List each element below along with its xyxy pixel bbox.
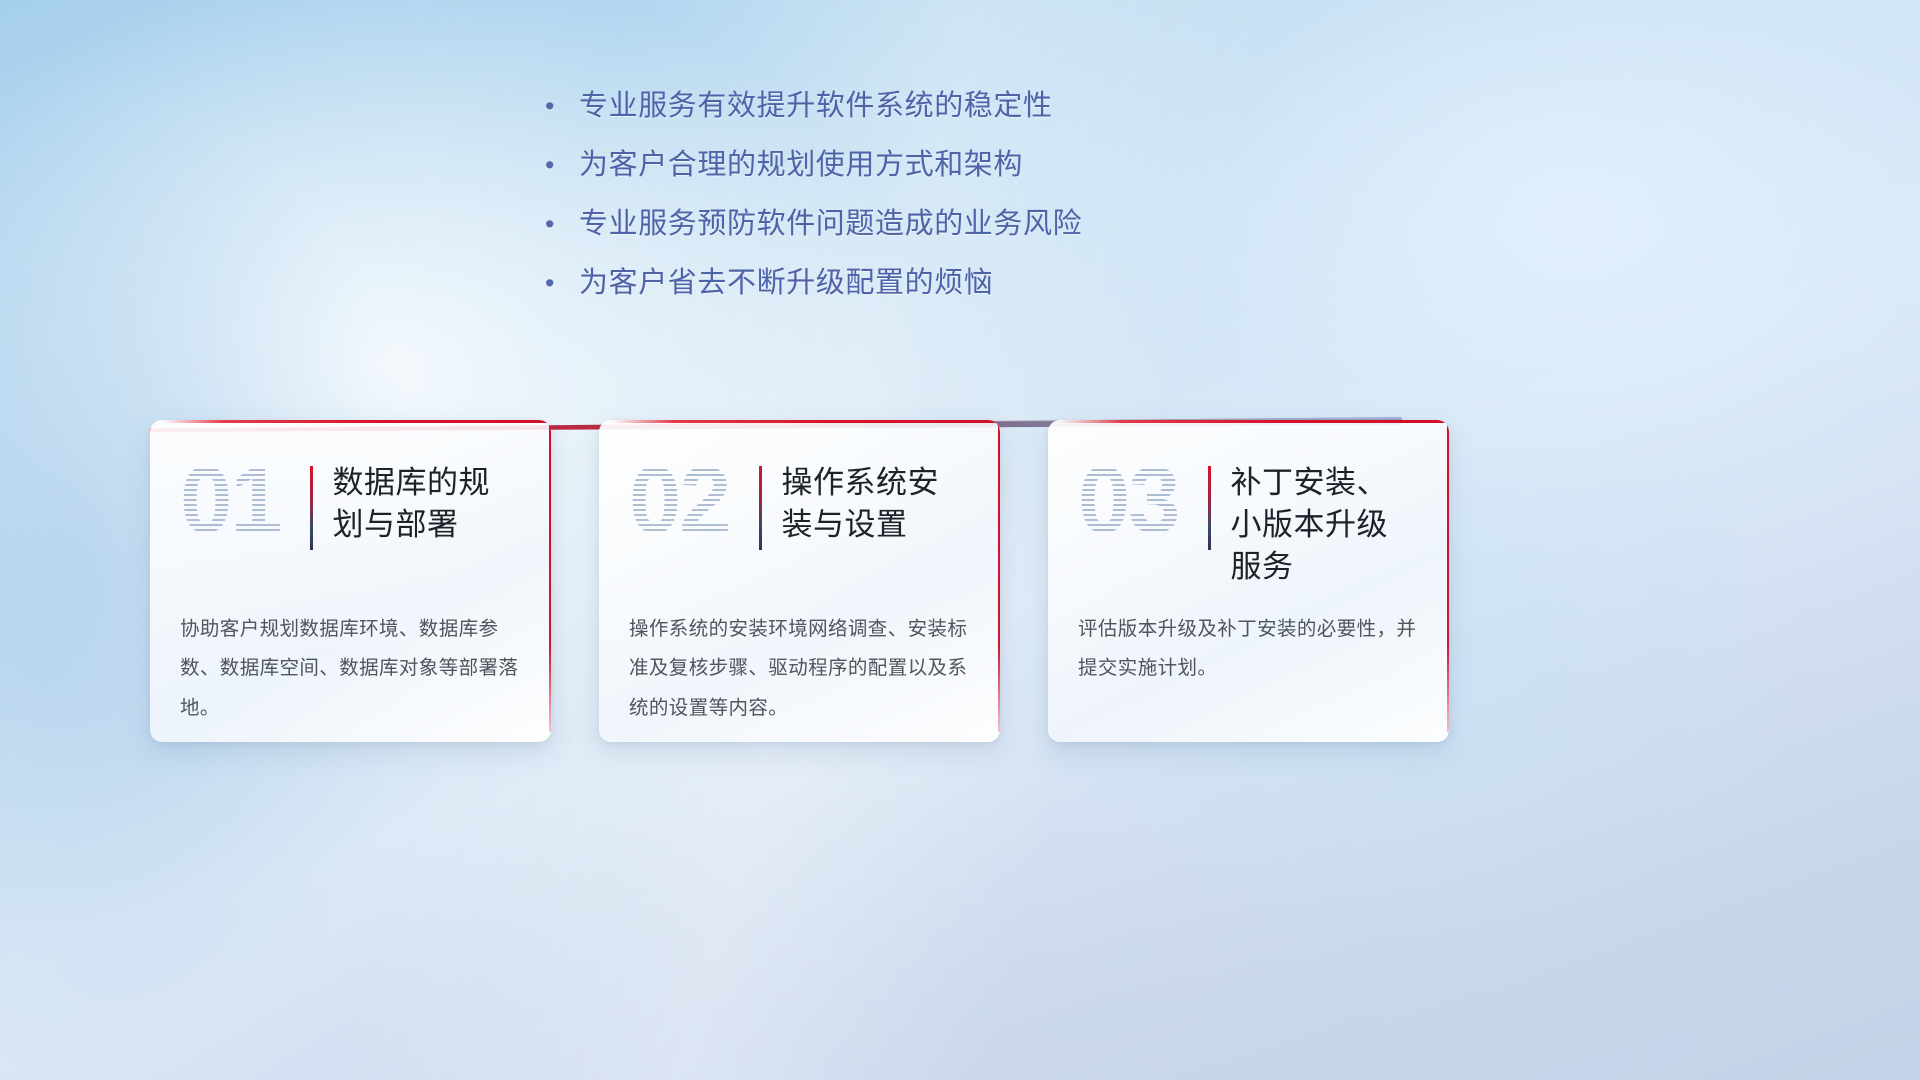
- service-card[interactable]: 03 补丁安装、小版本升级服务 评估版本升级及补丁安装的必要性，并提交实施计划。: [1048, 420, 1449, 742]
- list-item: • 专业服务有效提升软件系统的稳定性: [545, 88, 1265, 125]
- card-description: 评估版本升级及补丁安装的必要性，并提交实施计划。: [1078, 610, 1419, 689]
- bullet-dot-icon: •: [545, 93, 579, 120]
- card-title: 操作系统安装与设置: [782, 460, 971, 546]
- bullet-text: 专业服务预防软件问题造成的业务风险: [579, 206, 1265, 243]
- service-card[interactable]: 01 数据库的规划与部署 协助客户规划数据库环境、数据库参数、数据库空间、数据库…: [150, 420, 551, 742]
- bullet-dot-icon: •: [545, 211, 579, 238]
- card-description: 操作系统的安装环境网络调查、安装标准及复核步骤、驱动程序的配置以及系统的设置等内…: [629, 610, 970, 728]
- card-number: 03: [1078, 454, 1204, 546]
- card-number: 01: [180, 454, 306, 546]
- card-title: 数据库的规划与部署: [333, 460, 522, 546]
- card-title: 补丁安装、小版本升级服务: [1231, 460, 1420, 588]
- card-divider-rule: [759, 466, 762, 550]
- card-number: 02: [629, 454, 755, 546]
- benefits-bullet-list: • 专业服务有效提升软件系统的稳定性 • 为客户合理的规划使用方式和架构 • 专…: [545, 88, 1265, 324]
- bullet-text: 为客户合理的规划使用方式和架构: [579, 147, 1265, 184]
- card-divider-rule: [1208, 466, 1211, 550]
- service-card-row: 01 数据库的规划与部署 协助客户规划数据库环境、数据库参数、数据库空间、数据库…: [150, 420, 1450, 742]
- slide-root: • 专业服务有效提升软件系统的稳定性 • 为客户合理的规划使用方式和架构 • 专…: [0, 0, 1920, 1080]
- bullet-text: 为客户省去不断升级配置的烦恼: [579, 265, 1265, 302]
- list-item: • 为客户省去不断升级配置的烦恼: [545, 265, 1265, 302]
- list-item: • 专业服务预防软件问题造成的业务风险: [545, 206, 1265, 243]
- service-card[interactable]: 02 操作系统安装与设置 操作系统的安装环境网络调查、安装标准及复核步骤、驱动程…: [599, 420, 1000, 742]
- bullet-dot-icon: •: [545, 270, 579, 297]
- card-description: 协助客户规划数据库环境、数据库参数、数据库空间、数据库对象等部署落地。: [180, 610, 521, 728]
- bullet-text: 专业服务有效提升软件系统的稳定性: [579, 88, 1265, 125]
- card-divider-rule: [310, 466, 313, 550]
- list-item: • 为客户合理的规划使用方式和架构: [545, 147, 1265, 184]
- bullet-dot-icon: •: [545, 152, 579, 179]
